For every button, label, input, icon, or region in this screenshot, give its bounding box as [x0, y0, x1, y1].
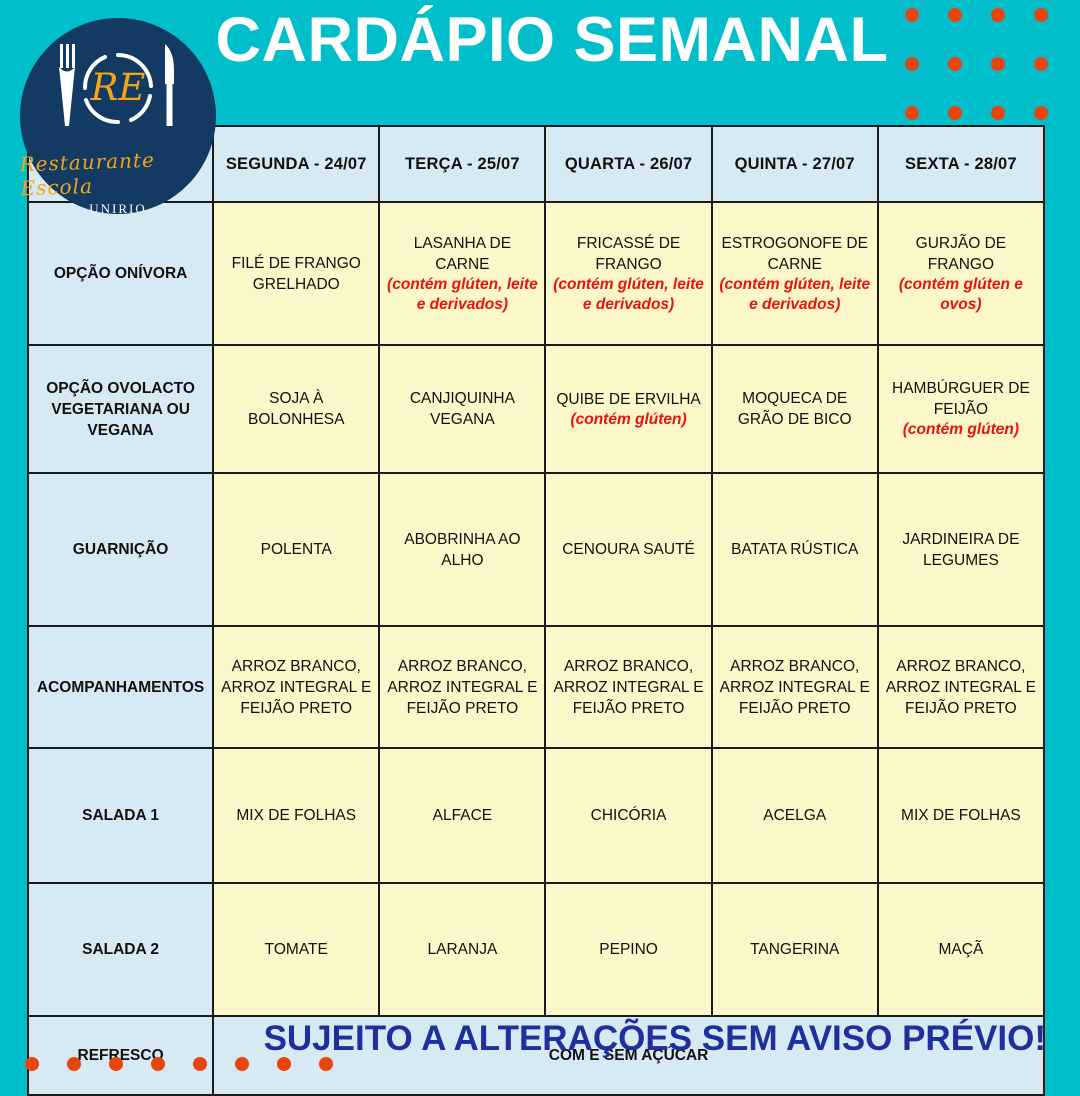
- dish-name: ARROZ BRANCO, ARROZ INTEGRAL E FEIJÃO PR…: [221, 658, 371, 717]
- decorative-dot: [109, 1057, 123, 1071]
- decorative-dot: [151, 1057, 165, 1071]
- menu-cell: MIX DE FOLHAS: [213, 748, 379, 883]
- menu-cell: FILÉ DE FRANGO GRELHADO: [213, 202, 379, 345]
- row-label-vegetariana: OPÇÃO OVOLACTO VEGETARIANA OU VEGANA: [28, 345, 213, 473]
- menu-cell: HAMBÚRGUER DE FEIJÃO (contém glúten): [878, 345, 1044, 473]
- menu-cell: ARROZ BRANCO, ARROZ INTEGRAL E FEIJÃO PR…: [878, 626, 1044, 748]
- menu-cell: ALFACE: [379, 748, 545, 883]
- decorative-dot: [991, 106, 1005, 120]
- table-row-salada-2: SALADA 2 TOMATE LARANJA PEPINO TANGERINA…: [28, 883, 1044, 1016]
- dish-name: LASANHA DE CARNE: [414, 235, 511, 273]
- decorative-dot: [319, 1057, 333, 1071]
- menu-cell: JARDINEIRA DE LEGUMES: [878, 473, 1044, 626]
- menu-cell: ARROZ BRANCO, ARROZ INTEGRAL E FEIJÃO PR…: [213, 626, 379, 748]
- table-row-guarnicao: GUARNIÇÃO POLENTA ABOBRINHA AO ALHO CENO…: [28, 473, 1044, 626]
- dish-name: TOMATE: [265, 941, 328, 958]
- table-row-onivora: OPÇÃO ONÍVORA FILÉ DE FRANGO GRELHADO LA…: [28, 202, 1044, 345]
- row-label-salada-2: SALADA 2: [28, 883, 213, 1016]
- dish-name: GURJÃO DE FRANGO: [916, 235, 1006, 273]
- decorative-dot: [905, 106, 919, 120]
- logo-script-name: Restaurante Escola: [19, 146, 217, 201]
- decorative-dot: [235, 1057, 249, 1071]
- decorative-dot: [67, 1057, 81, 1071]
- dish-name: PEPINO: [599, 941, 658, 958]
- weekly-menu-table: SEGUNDA - 24/07 TERÇA - 25/07 QUARTA - 2…: [27, 125, 1045, 1096]
- page-title: CARDÁPIO SEMANAL: [212, 4, 892, 76]
- dish-name: TANGERINA: [750, 941, 839, 958]
- menu-cell: CHICÓRIA: [545, 748, 711, 883]
- menu-cell: ARROZ BRANCO, ARROZ INTEGRAL E FEIJÃO PR…: [545, 626, 711, 748]
- menu-cell: ESTROGONOFE DE CARNE (contém glúten, lei…: [712, 202, 878, 345]
- decorative-dot: [905, 8, 919, 22]
- decorative-dot: [1034, 57, 1048, 71]
- dish-name: CANJIQUINHA VEGANA: [410, 390, 515, 428]
- dish-name: ARROZ BRANCO, ARROZ INTEGRAL E FEIJÃO PR…: [720, 658, 870, 717]
- decorative-dot: [948, 106, 962, 120]
- allergen-warning: (contém glúten, leite e derivados): [718, 275, 872, 315]
- svg-text:RE: RE: [90, 66, 146, 109]
- menu-cell: POLENTA: [213, 473, 379, 626]
- menu-cell: CANJIQUINHA VEGANA: [379, 345, 545, 473]
- dish-name: CHICÓRIA: [591, 807, 667, 824]
- decorative-dot: [277, 1057, 291, 1071]
- day-header-quarta: QUARTA - 26/07: [545, 126, 711, 202]
- decorative-dot: [905, 57, 919, 71]
- dish-name: ARROZ BRANCO, ARROZ INTEGRAL E FEIJÃO PR…: [387, 658, 537, 717]
- disclaimer-note: SUJEITO A ALTERAÇÕES SEM AVISO PRÉVIO!: [0, 1018, 1046, 1060]
- dish-name: MAÇÃ: [939, 941, 984, 958]
- allergen-warning: (contém glúten): [884, 420, 1038, 440]
- menu-cell: ACELGA: [712, 748, 878, 883]
- dish-name: ALFACE: [433, 807, 492, 824]
- dish-name: ARROZ BRANCO, ARROZ INTEGRAL E FEIJÃO PR…: [553, 658, 703, 717]
- menu-cell: LARANJA: [379, 883, 545, 1016]
- day-header-sexta: SEXTA - 28/07: [878, 126, 1044, 202]
- menu-cell: ARROZ BRANCO, ARROZ INTEGRAL E FEIJÃO PR…: [379, 626, 545, 748]
- dish-name: ARROZ BRANCO, ARROZ INTEGRAL E FEIJÃO PR…: [886, 658, 1036, 717]
- allergen-warning: (contém glúten, leite e derivados): [385, 275, 539, 315]
- dish-name: JARDINEIRA DE LEGUMES: [902, 531, 1019, 569]
- decorative-dot-row-bottom-left: [25, 1057, 361, 1071]
- menu-cell: GURJÃO DE FRANGO (contém glúten e ovos): [878, 202, 1044, 345]
- day-header-segunda: SEGUNDA - 24/07: [213, 126, 379, 202]
- table-row-salada-1: SALADA 1 MIX DE FOLHAS ALFACE CHICÓRIA A…: [28, 748, 1044, 883]
- day-header-terca: TERÇA - 25/07: [379, 126, 545, 202]
- decorative-dot: [991, 57, 1005, 71]
- dish-name: ABOBRINHA AO ALHO: [404, 531, 520, 569]
- menu-cell: MAÇÃ: [878, 883, 1044, 1016]
- menu-cell: TANGERINA: [712, 883, 878, 1016]
- decorative-dot: [948, 57, 962, 71]
- dish-name: ACELGA: [763, 807, 826, 824]
- dish-name: FRICASSÉ DE FRANGO: [577, 235, 680, 273]
- allergen-warning: (contém glúten): [551, 410, 705, 430]
- menu-cell: PEPINO: [545, 883, 711, 1016]
- row-label-salada-1: SALADA 1: [28, 748, 213, 883]
- menu-cell: CENOURA SAUTÉ: [545, 473, 711, 626]
- table-body: OPÇÃO ONÍVORA FILÉ DE FRANGO GRELHADO LA…: [28, 202, 1044, 1095]
- menu-cell: LASANHA DE CARNE (contém glúten, leite e…: [379, 202, 545, 345]
- row-label-acompanhamentos: ACOMPANHAMENTOS: [28, 626, 213, 748]
- menu-cell: MIX DE FOLHAS: [878, 748, 1044, 883]
- dish-name: MOQUECA DE GRÃO DE BICO: [738, 390, 852, 428]
- menu-cell: ABOBRINHA AO ALHO: [379, 473, 545, 626]
- dish-name: HAMBÚRGUER DE FEIJÃO: [892, 380, 1030, 418]
- table-row-vegetariana: OPÇÃO OVOLACTO VEGETARIANA OU VEGANA SOJ…: [28, 345, 1044, 473]
- dish-name: MIX DE FOLHAS: [236, 807, 356, 824]
- row-label-onivora: OPÇÃO ONÍVORA: [28, 202, 213, 345]
- row-label-guarnicao: GUARNIÇÃO: [28, 473, 213, 626]
- allergen-warning: (contém glúten e ovos): [884, 275, 1038, 315]
- dish-name: QUIBE DE ERVILHA: [556, 391, 700, 408]
- menu-cell: MOQUECA DE GRÃO DE BICO: [712, 345, 878, 473]
- logo-institution: UNIRIO: [89, 201, 147, 217]
- dish-name: FILÉ DE FRANGO GRELHADO: [232, 255, 361, 293]
- decorative-dot: [948, 8, 962, 22]
- allergen-warning: (contém glúten, leite e derivados): [551, 275, 705, 315]
- dish-name: ESTROGONOFE DE CARNE: [722, 235, 868, 273]
- dish-name: SOJA À BOLONHESA: [248, 390, 344, 428]
- menu-cell: FRICASSÉ DE FRANGO (contém glúten, leite…: [545, 202, 711, 345]
- menu-cell: BATATA RÚSTICA: [712, 473, 878, 626]
- table-row-acompanhamentos: ACOMPANHAMENTOS ARROZ BRANCO, ARROZ INTE…: [28, 626, 1044, 748]
- menu-cell: QUIBE DE ERVILHA (contém glúten): [545, 345, 711, 473]
- menu-cell: TOMATE: [213, 883, 379, 1016]
- restaurante-escola-logo: RE Restaurante Escola UNIRIO: [20, 18, 216, 214]
- decorative-dot: [1034, 8, 1048, 22]
- plate-fork-knife-icon: RE: [43, 34, 193, 147]
- menu-cell: ARROZ BRANCO, ARROZ INTEGRAL E FEIJÃO PR…: [712, 626, 878, 748]
- dish-name: BATATA RÚSTICA: [731, 541, 858, 558]
- dish-name: POLENTA: [261, 541, 332, 558]
- menu-cell: SOJA À BOLONHESA: [213, 345, 379, 473]
- decorative-dot: [193, 1057, 207, 1071]
- dish-name: LARANJA: [428, 941, 498, 958]
- decorative-dot: [1034, 106, 1048, 120]
- day-header-quinta: QUINTA - 27/07: [712, 126, 878, 202]
- dish-name: CENOURA SAUTÉ: [562, 541, 695, 558]
- decorative-dot: [991, 8, 1005, 22]
- decorative-dot: [25, 1057, 39, 1071]
- dish-name: MIX DE FOLHAS: [901, 807, 1021, 824]
